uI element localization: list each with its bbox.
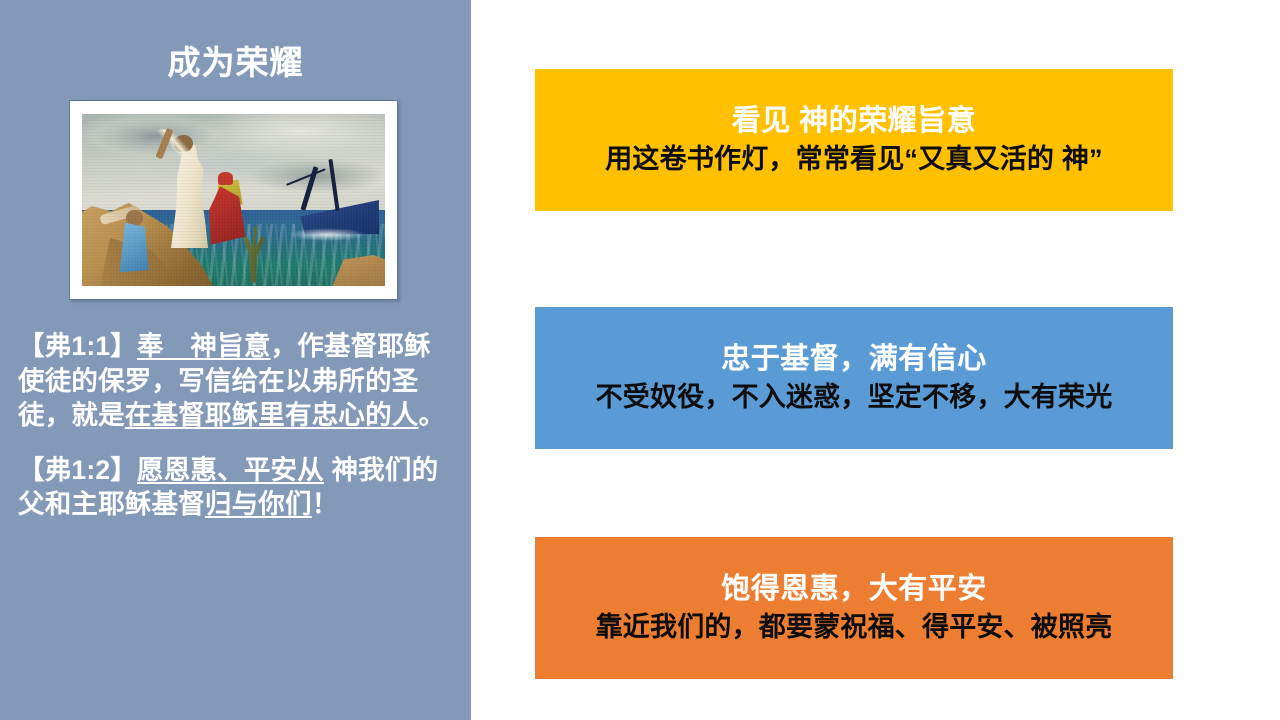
scripture-illustration-frame [69,100,398,300]
painting-figure-red-cap [218,172,233,184]
verse-1-plain-b: 。 [419,400,446,430]
point-subtext-2: 不受奴役，不入迷惑，坚定不移，大有荣光 [596,381,1113,413]
point-heading-3: 饱得恩惠，大有平安 [721,572,987,607]
left-panel: 成为荣耀 [0,0,471,720]
point-subtext-3: 靠近我们的，都要蒙祝福、得平安、被照亮 [596,611,1113,643]
point-box-faithful-in-christ: 忠于基督，满有信心 不受奴役，不入迷惑，坚定不移，大有荣光 [535,307,1173,449]
point-box-see-gods-glory: 看见 神的荣耀旨意 用这卷书作灯，常常看见“又真又活的 神” [535,69,1173,211]
verse-eph-1-2: 【弗1:2】愿恩惠、平安从 神我们的父和主耶稣基督归与你们！ [18,453,456,522]
verse-eph-1-1: 【弗1:1】奉 神旨意，作基督耶稣使徒的保罗，写信给在以弗所的圣徒，就是在基督耶… [18,329,456,433]
painting-image [82,114,385,286]
point-heading-1: 看见 神的荣耀旨意 [732,104,977,139]
verse-1-underline-b: 在基督耶稣里有忠心的人 [125,400,419,430]
page-title: 成为荣耀 [0,44,471,82]
verse-reference-2: 【弗1:2】 [18,455,137,485]
point-box-grace-and-peace: 饱得恩惠，大有平安 靠近我们的，都要蒙祝福、得平安、被照亮 [535,537,1173,679]
verse-2-underline-a: 愿恩惠、平安从 [137,455,324,485]
point-heading-2: 忠于基督，满有信心 [721,342,987,377]
painting-sea-foam [288,228,367,242]
point-subtext-1: 用这卷书作灯，常常看见“又真又活的 神” [605,143,1103,175]
verse-1-underline-a: 奉 神旨意 [137,331,271,361]
scripture-text-block: 【弗1:1】奉 神旨意，作基督耶稣使徒的保罗，写信给在以弗所的圣徒，就是在基督耶… [18,329,456,522]
verse-reference-1: 【弗1:1】 [18,331,137,361]
verse-2-plain-b: ！ [312,489,339,519]
painting-cloud-2 [249,159,385,193]
presentation-slide: 成为荣耀 [0,0,1280,720]
verse-2-underline-b: 归与你们 [205,489,312,519]
